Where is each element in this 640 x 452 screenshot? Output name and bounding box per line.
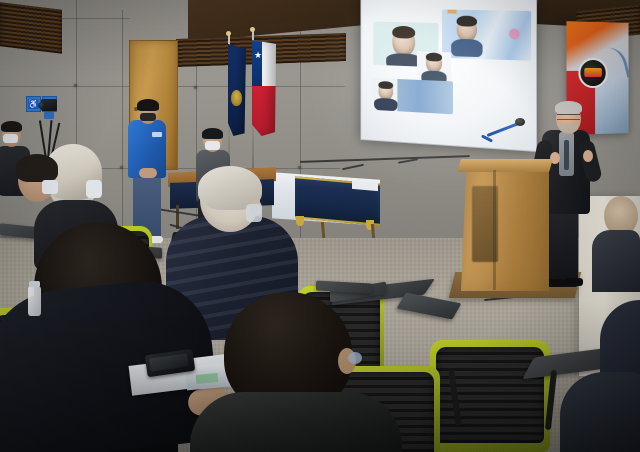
speaker-hand-right [583, 150, 593, 162]
speaker-beard [559, 124, 578, 133]
attendee-left-masked-hair [1, 121, 22, 132]
flag-chile: ★ [252, 40, 276, 136]
graphic-dot [509, 28, 520, 39]
water-bottle-cap[interactable] [29, 281, 40, 287]
table-gold-corner [296, 216, 304, 226]
flag-chile-canton [252, 40, 262, 86]
speaker-legs [548, 205, 578, 287]
attendee-grey-hair-puffer-face-mask [246, 204, 262, 222]
water-bottle[interactable] [28, 286, 41, 316]
speaker-shoe [564, 278, 583, 286]
projection-screen [360, 0, 537, 152]
attendee-right-shoulder [560, 372, 640, 452]
standing-attendee-beanie [137, 99, 159, 111]
attendee-dark-hair-left-face-mask [42, 180, 58, 194]
torso [451, 39, 482, 57]
flag-institutional [228, 44, 246, 136]
wall-tie-hole [120, 166, 123, 169]
wall-seam [122, 10, 123, 248]
flag-star-icon: ★ [254, 51, 262, 60]
auditorium-scene: ♿ ℹ ★ [0, 0, 640, 452]
camera-screen [44, 112, 54, 119]
graphic-accent [448, 10, 457, 14]
flag-finial [250, 27, 255, 32]
attendee-right-mid-torso [592, 230, 640, 292]
attendee-left-masked-face-mask [3, 134, 18, 143]
document-green-highlight [196, 373, 219, 384]
standing-attendee-face-mask [140, 113, 156, 121]
wall-tie-hole [74, 84, 77, 87]
banner-badge-inner [584, 68, 602, 77]
participant-tile-bottom [372, 78, 453, 114]
wall-tie-hole [298, 166, 301, 169]
attendee-masked-beanie-face-mask [205, 141, 220, 150]
hair [392, 26, 415, 39]
attendee-dark-hair-left-hair [16, 154, 58, 182]
speaker-tie [564, 140, 569, 170]
wall-tie-hole [194, 86, 197, 89]
speaker-hair [555, 101, 582, 114]
microphone-head-icon [515, 118, 525, 126]
speaker-glasses-icon [557, 114, 580, 120]
lectern-edge [493, 170, 496, 290]
standing-attendee-hands [139, 168, 157, 178]
standing-attendee-jacket-logo [152, 132, 162, 137]
participant-tile-top-right [442, 10, 531, 61]
hair [426, 52, 442, 61]
flag-finial [226, 31, 231, 36]
hair [457, 16, 477, 27]
attendee-dark-hair-foreground-mask-strap [348, 352, 362, 364]
camera-lens-icon [38, 102, 45, 109]
attendee-masked-beanie-hat [202, 128, 223, 139]
attendee-white-hair-face-mask [86, 180, 102, 198]
wood-slat-panel [0, 2, 62, 54]
lectern-top [457, 159, 553, 172]
flag-emblem [231, 90, 242, 106]
banner-badge [578, 58, 607, 88]
auditorium-chair[interactable] [430, 340, 550, 452]
torso [374, 98, 397, 112]
hair [378, 81, 393, 89]
attendee-dark-hair-foreground-fleece [190, 392, 402, 452]
